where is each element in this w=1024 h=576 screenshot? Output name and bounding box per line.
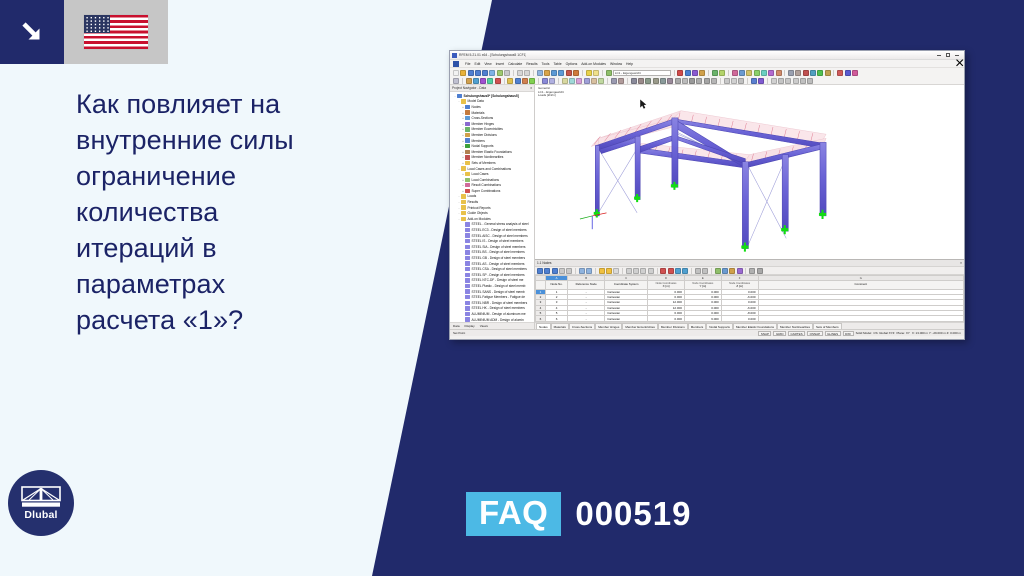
navigator-tab-data[interactable]: Data [452,324,460,328]
toolbar-button-27[interactable] [638,78,644,84]
toolbar-button-0[interactable] [453,78,459,84]
rfem-icon [452,53,457,58]
project-icon [457,94,462,98]
tree-item-label: Guide Objects [468,211,488,215]
toolbar-button-26[interactable] [631,78,637,84]
toolbar-separator [607,78,608,84]
toolbar-separator [533,70,534,76]
flag-panel [64,0,168,64]
toolbar-button-16[interactable] [562,78,568,84]
toolbar-button-6[interactable] [579,268,585,274]
title-line: итераций в [76,230,406,266]
tree-item-label: Nodes [472,105,481,109]
toolbar-button-10[interactable] [524,70,530,76]
toolbar-button-28[interactable] [645,78,651,84]
sheet-tab-member-eccentricities[interactable]: Member Eccentricities [622,323,658,329]
tree-item-label: Materials [472,111,485,115]
toolbar-button-39[interactable] [776,70,782,76]
toolbar-button-31[interactable] [719,70,725,76]
tree-item-label: ALUMINIUM ADM - Design of alumin [472,318,524,322]
toolbar-button-28[interactable] [729,268,735,274]
faq-number: 000519 [575,495,691,533]
title-line: ограничение [76,158,406,194]
tree-item-label: Results [468,200,479,204]
sheet-tab-strip[interactable]: NodesMaterialsCross-SectionsMember Hinge… [535,322,964,329]
toolbar-button-15[interactable] [640,268,646,274]
toolbar-button-23[interactable] [695,268,701,274]
folder-yellow [461,200,466,204]
tree-item-label: Member Eccentricities [472,127,503,131]
toolbar-button-24[interactable] [618,78,624,84]
hinge-icon [465,122,470,126]
menu-item-view[interactable]: View [484,62,491,66]
status-toggle-snap[interactable]: SNAP [758,331,771,336]
toolbar-separator [767,78,768,84]
nodes-table[interactable]: ABCDEFG Node No.Reference NodeCoordinate… [535,275,964,322]
table-cell[interactable]: Cartesian [605,316,648,321]
toolbar-separator [627,78,628,84]
toolbar-button-28[interactable] [699,70,705,76]
toolbar-button-19[interactable] [586,70,592,76]
tree-item-label: STEEL BS - Design of steel members [472,250,525,254]
folder-yellow [461,99,466,103]
navigator-tab-display[interactable]: Display [464,324,475,328]
module-icon [465,289,470,293]
toolbar-button-11[interactable] [529,78,535,84]
toolbar-button-2[interactable] [468,70,474,76]
table-cell[interactable]: 6 [546,316,568,321]
mouse-cursor [640,99,646,108]
toolbar-button-40[interactable] [731,78,737,84]
module-icon [465,245,470,249]
sheet-tab-sets-of-members[interactable]: Sets of Members [813,323,842,329]
status-toggle-dxf[interactable]: DXF [843,331,854,336]
toolbar-button-29[interactable] [653,78,659,84]
toolbar-button-4[interactable] [566,268,572,274]
tree-item-label: ALUMINIUM - Design of aluminum me [472,312,526,316]
module-icon [465,233,470,237]
column-header-4[interactable]: Node CoordinatesY [m] [684,281,721,290]
toolbar-button-31[interactable] [749,268,755,274]
toolbar-button-44[interactable] [810,70,816,76]
maximize-icon[interactable] [946,53,950,57]
toolbar-button-5[interactable] [487,78,493,84]
tree-item-label: STEEL CSA - Design of steel members [472,267,527,271]
tree-item-label: Member Elastic Foundations [472,150,512,154]
faq-footer: FAQ 000519 [466,492,691,536]
module-icon [465,239,470,243]
table-panel[interactable]: 1.1 Nodes × ABCDEFG Node No.Reference No… [535,259,964,329]
secondary-toolbar[interactable] [450,77,964,85]
navigator-tab-views[interactable]: Views [479,324,488,328]
table-cell[interactable] [758,316,963,321]
sheet-tab-member-nonlinearities[interactable]: Member Nonlinearities [777,323,813,329]
toolbar-separator [462,78,463,84]
table-cell[interactable]: 6.000 [684,316,721,321]
toolbar-button-22[interactable] [606,70,612,76]
toolbar-button-25[interactable] [677,70,683,76]
toolbar-button-39[interactable] [724,78,730,84]
toolbar-button-14[interactable] [549,78,555,84]
toolbar-button-35[interactable] [746,70,752,76]
toolbar-button-18[interactable] [576,78,582,84]
toolbar-button-35[interactable] [696,78,702,84]
toolbar-button-46[interactable] [771,78,777,84]
toolbar-button-32[interactable] [675,78,681,84]
tree-item-label: Super Combinations [472,189,501,193]
toolbar-button-30[interactable] [660,78,666,84]
toolbar-button-19[interactable] [584,78,590,84]
supercomb-icon [465,189,470,193]
table-body: 11-Cartesian0.0000.0000.00022-Cartesian0… [536,289,964,321]
member-icon [465,138,470,142]
toolbar-button-8[interactable] [507,78,513,84]
tree-item-label: STEEL IS - Design of steel members [472,239,524,243]
module-icon [465,250,470,254]
status-coords: X: 13.000 m Y: -29.000 m Z: 0.000 m [912,331,961,335]
roof-beams [596,119,824,168]
toolbar-separator [674,70,675,76]
steel-frame-3d-model [535,85,964,259]
toolbar-separator [558,78,559,84]
module-icon [465,306,470,310]
sheet-tab-materials[interactable]: Materials [551,323,569,329]
toolbar-separator [711,268,712,274]
tree-item-label: STEEL SP - Design of steel members [472,273,525,277]
toolbar-button-13[interactable] [542,78,548,84]
window-title-bar[interactable]: RFEM 5.21.01 x64 - [Schulungshaus5 1CF1]… [450,51,964,60]
column-header-6[interactable]: Comment [758,281,963,290]
toolbar-button-16[interactable] [566,70,572,76]
toolbar-button-27[interactable] [692,70,698,76]
menu-item-help[interactable]: Help [626,62,633,66]
menu-item-calculate[interactable]: Calculate [508,62,522,66]
column-header-row: Node No.Reference NodeCoordinate SystemN… [536,281,964,290]
toolbar-button-11[interactable] [613,268,619,274]
tree-item-label: STEEL NTC-DF - Design of steel me [472,278,524,282]
toolbar-button-48[interactable] [837,70,843,76]
toolbar-button-45[interactable] [817,70,823,76]
title-line: Как повлияет на [76,86,406,122]
tree-item-label: Member Nonlinearities [472,155,504,159]
toolbar-button-49[interactable] [793,78,799,84]
node-icon [465,105,470,109]
toolbar-button-10[interactable] [522,78,528,84]
tree-item-label: Load Cases [472,172,489,176]
toolbar-button-20[interactable] [593,70,599,76]
tree-item-label: Cross-Sections [472,116,494,120]
tree-item-label: STEEL - General stress analysis of steel [472,222,529,226]
toolbar-button-44[interactable] [758,78,764,84]
toolbar-button-3[interactable] [475,70,481,76]
toolbar-separator [602,70,603,76]
toolbar-separator [582,70,583,76]
toolbar-button-43[interactable] [751,78,757,84]
module-icon [465,278,470,282]
toolbar-button-47[interactable] [778,78,784,84]
toolbar-separator [513,70,514,76]
toolbar-separator [833,70,834,76]
menu-item-table[interactable]: Table [553,62,561,66]
toolbar-button-1[interactable] [460,70,466,76]
title-line: внутренние силы [76,122,406,158]
toolbar-button-17[interactable] [573,70,579,76]
close-icon[interactable]: × [955,55,959,56]
tree-item-label: Member Divisions [472,133,497,137]
truss-frame-icon [21,486,61,508]
rfem-application-window[interactable]: RFEM 5.21.01 x64 - [Schulungshaus5 1CF1]… [449,50,965,340]
toolbar-button-3[interactable] [473,78,479,84]
navigator-tree[interactable]: -Schulungshaus5* [Schulungshaus5]-Model … [450,92,534,322]
toolbar-button-4[interactable] [482,70,488,76]
navigator-tabs[interactable]: Data Display Views [450,322,534,329]
toolbar-button-31[interactable] [667,78,673,84]
menu-item-window[interactable]: Window [610,62,622,66]
menu-item-file[interactable]: File [465,62,470,66]
tree-item-label: STEEL Plastic - Design of steel memb [472,284,526,288]
toolbar-separator [575,268,576,274]
dlubal-wordmark: Dlubal [24,510,57,521]
folder-yellow [461,205,466,209]
title-line: количества [76,194,406,230]
toolbar-button-9[interactable] [515,78,521,84]
sheet-tab-cross-sections[interactable]: Cross-Sections [569,323,595,329]
toolbar-button-1[interactable] [544,268,550,274]
status-toggle-cartes[interactable]: CARTES [788,331,805,336]
toolbar-button-50[interactable] [800,78,806,84]
toolbar-button-10[interactable] [606,268,612,274]
module-icon [465,312,470,316]
toolbar-button-41[interactable] [738,78,744,84]
coordinate-axes [580,213,607,229]
toolbar-button-42[interactable] [795,70,801,76]
toolbar-separator [595,268,596,274]
toolbar-separator [622,268,623,274]
sheet-tab-member-divisions[interactable]: Member Divisions [658,323,688,329]
toolbar-separator [784,70,785,76]
status-toggle-glines[interactable]: GLINES [825,331,841,336]
folder-yellow [461,194,466,198]
column-header-3[interactable]: Node CoordinatesX [m] [648,281,685,290]
toolbar-button-19[interactable] [668,268,674,274]
toolbar-button-21[interactable] [598,78,604,84]
toolbar-button-48[interactable] [785,78,791,84]
toolbar-button-0[interactable] [537,268,543,274]
project-navigator[interactable]: Project Navigator - Data x -Schulungshau… [450,85,535,329]
module-icon [465,301,470,305]
menu-item-results[interactable]: Results [526,62,537,66]
module-icon [465,222,470,226]
module-icon [465,273,470,277]
eccentricity-icon [465,127,470,131]
toolbar-button-30[interactable] [712,70,718,76]
toolbar-button-33[interactable] [682,78,688,84]
table-close-icon[interactable]: × [960,261,962,265]
status-mode: Solid Model [856,331,872,335]
toolbar-button-20[interactable] [591,78,597,84]
set-icon [465,161,470,165]
toolbar-button-6[interactable] [497,70,503,76]
table-row[interactable]: 66-Cartesian0.0006.0000.000 [536,316,964,321]
toolbar-separator [747,78,748,84]
toolbar-button-6[interactable] [495,78,501,84]
tree-item-label: STEEL AISC - Design of steel members [472,234,528,238]
toolbar-button-4[interactable] [480,78,486,84]
tree-root-label: Schulungshaus5* [Schulungshaus5] [464,94,519,98]
toolbar-button-13[interactable] [544,70,550,76]
toolbar-button-34[interactable] [689,78,695,84]
toolbar-button-27[interactable] [722,268,728,274]
toolbar-button-7[interactable] [586,268,592,274]
toolbar-button-50[interactable] [852,70,858,76]
toolbar-button-16[interactable] [648,268,654,274]
toolbar-button-26[interactable] [685,70,691,76]
toolbar-button-36[interactable] [704,78,710,84]
toolbar-button-29[interactable] [737,268,743,274]
nodal-supports [594,182,826,252]
sheet-tab-members[interactable]: Members [688,323,707,329]
toolbar-button-24[interactable] [702,268,708,274]
main-toolbar[interactable]: LC1 - Eigengewicht [450,68,964,77]
table-corner-header [536,281,546,290]
toolbar-button-15[interactable] [558,70,564,76]
navigator-close-icon[interactable]: x [530,86,532,90]
tree-item-label: Add-on Modules [468,217,491,221]
table-toolbar[interactable] [535,267,964,275]
toolbar-button-32[interactable] [757,268,763,274]
tree-item-label: Member Hinges [472,122,495,126]
load-case-combo[interactable]: LC1 - Eigengewicht [613,70,671,76]
status-toggle-osnap[interactable]: OSNAP [807,331,823,336]
status-cs: CS: Global XYZ [873,331,894,335]
status-toggle-grid[interactable]: GRID [773,331,786,336]
toolbar-button-33[interactable] [732,70,738,76]
menu-item-options[interactable]: Options [566,62,578,66]
toolbar-button-5[interactable] [489,70,495,76]
tree-item-label: Printout Reports [468,206,491,210]
app-logo-icon [453,61,459,67]
window-controls[interactable]: × [937,53,962,57]
window-body: Project Navigator - Data x -Schulungshau… [450,85,964,329]
foundation-icon [465,150,470,154]
toolbar-button-9[interactable] [517,70,523,76]
sheet-tab-member-elastic-foundations[interactable]: Member Elastic Foundations [733,323,777,329]
toolbar-button-9[interactable] [599,268,605,274]
toolbar-separator [657,268,658,274]
menu-item-insert[interactable]: Insert [496,62,504,66]
folder-yellow [461,217,466,221]
tree-item-label: STEEL AS - Design of steel members [472,262,525,266]
column-header-2[interactable]: Coordinate System [605,281,648,290]
toolbar-button-14[interactable] [633,268,639,274]
toolbar-button-49[interactable] [845,70,851,76]
cross-section-icon [465,116,470,120]
tree-item-label: STEEL SIA - Design of steel members [472,245,526,249]
toolbar-separator [538,78,539,84]
toolbar-button-17[interactable] [569,78,575,84]
title-line: расчета «1»? [76,302,406,338]
toolbar-button-2[interactable] [466,78,472,84]
toolbar-button-3[interactable] [559,268,565,274]
column-header-0[interactable]: Node No. [546,281,568,290]
toolbar-button-23[interactable] [611,78,617,84]
toolbar-button-21[interactable] [682,268,688,274]
toolbar-button-38[interactable] [768,70,774,76]
column-header-1[interactable]: Reference Node [568,281,605,290]
toolbar-button-41[interactable] [788,70,794,76]
tree-item-label: STEEL GB - Design of steel members [472,256,526,260]
folder-yellow [461,166,466,170]
dlubal-logo: Dlubal [8,470,74,536]
toolbar-separator [708,70,709,76]
tree-item-label: Model Data [468,99,484,103]
toolbar-button-0[interactable] [453,70,459,76]
sheet-tab-nodes[interactable]: Nodes [536,323,551,329]
menu-item-edit[interactable]: Edit [474,62,480,66]
slide-canvas: Как повлияет на внутренние силы ограниче… [0,0,1024,576]
menu-bar[interactable]: File Edit View Insert Calculate Results … [450,60,964,68]
toolbar-button-7[interactable] [504,70,510,76]
navigator-header: Project Navigator - Data x [450,85,534,92]
navigator-title: Project Navigator - Data [452,86,486,90]
toolbar-button-2[interactable] [552,268,558,274]
model-viewport[interactable]: Isometric LC1 - Eigengewicht Loads [kN/m… [535,85,964,259]
sheet-tab-member-hinges[interactable]: Member Hinges [595,323,622,329]
us-flag-icon [84,15,148,49]
module-icon [465,228,470,232]
tree-item-label: STEEL SANS - Design of steel memb [472,290,525,294]
toolbar-separator [691,268,692,274]
table-cell[interactable]: 0.000 [648,316,685,321]
menu-item-tools[interactable]: Tools [542,62,550,66]
column-header-5[interactable]: Node CoordinatesZ [m] [721,281,758,290]
menu-item-addon[interactable]: Add-on Modules [581,62,606,66]
toolbar-button-36[interactable] [754,70,760,76]
module-icon [465,295,470,299]
module-icon [465,256,470,260]
row-header[interactable]: 6 [536,316,546,321]
page-title: Как повлияет на внутренние силы ограниче… [76,86,406,338]
module-icon [465,284,470,288]
toolbar-button-34[interactable] [739,70,745,76]
toolbar-button-43[interactable] [803,70,809,76]
toolbar-button-20[interactable] [675,268,681,274]
toolbar-button-12[interactable] [537,70,543,76]
toolbar-button-46[interactable] [825,70,831,76]
toolbar-button-14[interactable] [551,70,557,76]
table-cell[interactable]: - [568,316,605,321]
toolbar-button-26[interactable] [715,268,721,274]
minimize-icon[interactable] [937,55,941,56]
material-icon [465,110,470,114]
table-caption: 1.1 Nodes [537,261,552,265]
division-icon [465,133,470,137]
toolbar-button-18[interactable] [660,268,666,274]
work-area: Isometric LC1 - Eigengewicht Loads [kN/m… [535,85,964,329]
table-cell[interactable]: 0.000 [721,316,758,321]
status-bar: Set Point SNAP GRID CARTES OSNAP GLINES … [450,329,964,336]
sheet-tab-nodal-supports[interactable]: Nodal Supports [706,323,733,329]
tree-item-label: STEEL EC3 - Design of steel members [472,228,527,232]
toolbar-separator [745,268,746,274]
toolbar-button-13[interactable] [626,268,632,274]
toolbar-button-37[interactable] [761,70,767,76]
module-icon [465,261,470,265]
toolbar-button-51[interactable] [807,78,813,84]
toolbar-button-37[interactable] [711,78,717,84]
tree-item-label: STEEL Fatigue Members - Fatigue de [472,295,526,299]
folder-yellow [461,211,466,215]
